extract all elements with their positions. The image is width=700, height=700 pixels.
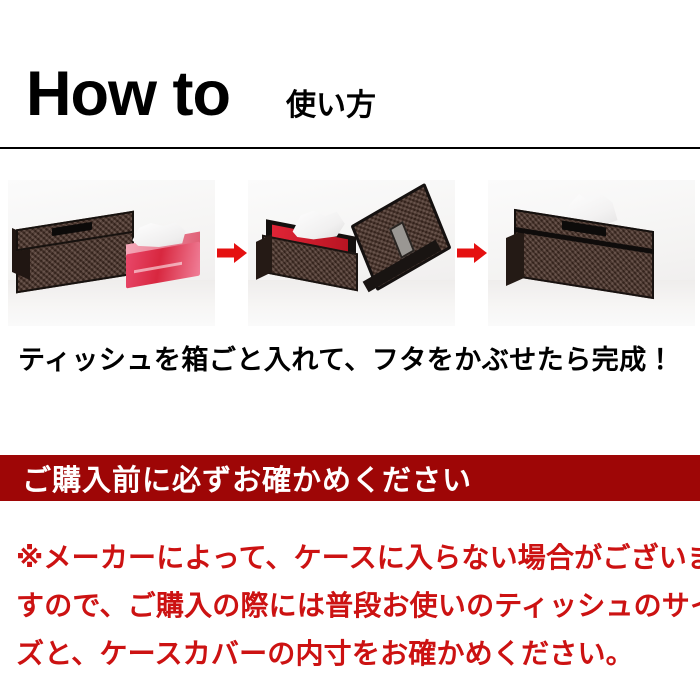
red-right-arrow-icon [217, 243, 247, 263]
header-title-group: How to 使い方 [0, 63, 376, 148]
step-arrow-1 [215, 180, 248, 326]
notice-line-1: ※メーカーによって、ケースに入らない場合がございま [16, 534, 692, 582]
how-to-step-strip [0, 180, 700, 326]
notice-line-2: すので、ご購入の際には普段お使いのティッシュのサイ [16, 582, 692, 630]
tissue-sheet [288, 210, 346, 240]
size-warning-text: ※メーカーによって、ケースに入らない場合がございま すので、ご購入の際には普段お… [16, 534, 692, 678]
step-caption: ティッシュを箱ごと入れて、フタをかぶせたら完成！ [18, 338, 682, 377]
case-side [256, 234, 272, 280]
step-photo-2 [248, 180, 455, 326]
step-arrow-2 [455, 180, 488, 326]
header-divider [0, 147, 700, 149]
step-photo-1 [8, 180, 215, 326]
page-header: How to 使い方 [0, 0, 700, 148]
notice-line-3: ズと、ケースカバーの内寸をお確かめください。 [16, 630, 692, 678]
step-photo-3 [488, 180, 695, 326]
banner-heading: ご購入前に必ずお確かめください [0, 457, 472, 499]
purchase-notice-banner: ご購入前に必ずお確かめください [0, 455, 700, 501]
page-title-japanese: 使い方 [286, 91, 376, 121]
red-right-arrow-icon [457, 243, 487, 263]
page-title-english: How to [26, 63, 230, 126]
case-side [506, 230, 524, 286]
